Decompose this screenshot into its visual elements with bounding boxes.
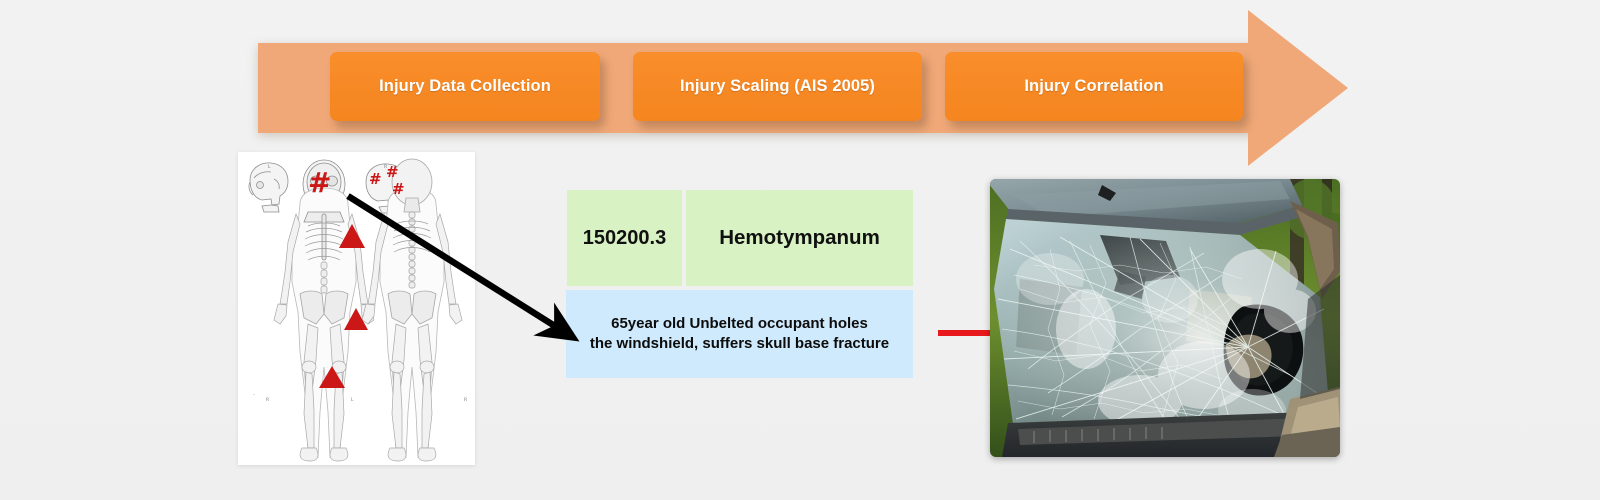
- stage-box-label: Injury Data Collection: [379, 77, 551, 96]
- stage-box-label: Injury Scaling (AIS 2005): [680, 77, 875, 96]
- stage-box-injury-data-collection[interactable]: Injury Data Collection: [330, 52, 600, 121]
- fracture-hash-icon: #: [308, 166, 331, 199]
- svg-text:R: R: [384, 164, 387, 170]
- injury-description-text: 65year old Unbelted occupant holesthe wi…: [590, 314, 889, 354]
- svg-text:R: R: [266, 397, 269, 403]
- stage-box-injury-scaling[interactable]: Injury Scaling (AIS 2005): [633, 52, 922, 121]
- slide-canvas: Injury Data Collection Injury Scaling (A…: [0, 0, 1600, 500]
- windshield-photo-image: [990, 179, 1340, 457]
- fracture-hash-icon: #: [386, 163, 399, 181]
- stage-box-injury-correlation[interactable]: Injury Correlation: [945, 52, 1243, 121]
- skeleton-diagram-image: # # # # - R L R L R: [238, 152, 475, 465]
- windshield-damage-photo: [990, 179, 1340, 457]
- fracture-hash-icon: #: [369, 170, 382, 188]
- injury-name-box: Hemotympanum: [686, 190, 913, 286]
- stage-box-label: Injury Correlation: [1024, 77, 1163, 96]
- injury-code-box: 150200.3: [567, 190, 682, 286]
- arrow-head-icon: [1248, 10, 1348, 166]
- injury-code-value: 150200.3: [583, 227, 666, 250]
- injury-name-value: Hemotympanum: [719, 226, 880, 250]
- injury-description-box: 65year old Unbelted occupant holesthe wi…: [566, 290, 913, 378]
- fracture-hash-icon: #: [392, 180, 405, 198]
- description-line-1: 65year old Unbelted occupant holes: [611, 315, 868, 332]
- svg-text:R: R: [464, 397, 467, 403]
- description-line-2: the windshield, suffers skull base fract…: [590, 335, 889, 352]
- skeleton-diagram-card: # # # # - R L R L R: [238, 152, 475, 465]
